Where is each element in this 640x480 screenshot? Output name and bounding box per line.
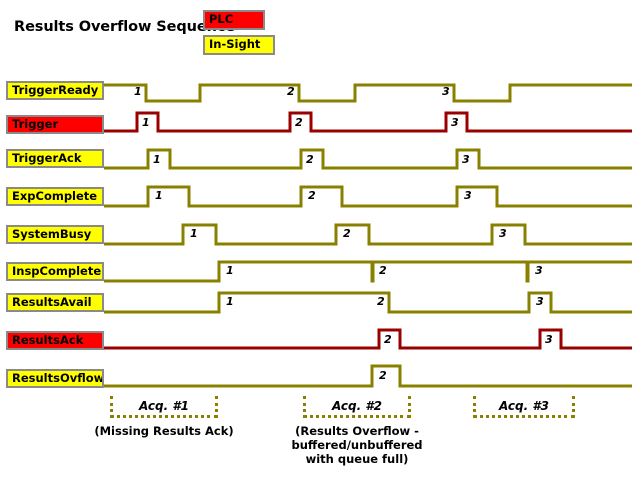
acquisition-title-acq3: Acq. #3 [473,399,575,413]
pulse-number: 3 [451,116,459,129]
pulse-number: 1 [134,85,142,98]
pulse-number: 1 [155,189,163,202]
pulse-number: 2 [377,295,385,308]
waveform-triggerack [104,150,632,168]
pulse-number: 2 [308,189,316,202]
pulse-number: 3 [462,153,470,166]
pulse-number: 3 [536,295,544,308]
pulse-number: 2 [384,333,392,346]
waveform-triggerready [104,85,632,101]
pulse-number: 2 [379,369,387,382]
acquisition-title-acq2: Acq. #2 [303,399,411,413]
pulse-number: 2 [295,116,303,129]
pulse-number: 2 [343,227,351,240]
pulse-number: 3 [545,333,553,346]
pulse-number: 1 [153,153,161,166]
pulse-number: 2 [306,153,314,166]
pulse-number: 3 [535,264,543,277]
pulse-number: 1 [190,227,198,240]
timing-diagram-page: Results Overflow Sequence PLC In-Sight T… [0,0,640,480]
pulse-number: 1 [142,116,150,129]
waveform-expcomplete [104,187,632,206]
pulse-number: 1 [226,264,234,277]
waveform-resultsovflow [104,366,632,386]
pulse-number: 3 [499,227,507,240]
waveform-systembusy [104,225,632,244]
acquisition-caption-acq2: (Results Overflow -buffered/unbufferedwi… [263,424,451,466]
acquisition-title-acq1: Acq. #1 [110,399,218,413]
pulse-number: 1 [226,295,234,308]
pulse-number: 3 [442,85,450,98]
pulse-number: 3 [464,189,472,202]
waveform-trigger [104,113,632,131]
waveform-resultsavail [104,293,632,312]
acquisition-caption-acq1: (Missing Results Ack) [70,424,258,438]
pulse-number: 2 [287,85,295,98]
pulse-number: 2 [379,264,387,277]
waveform-resultsack [104,330,632,348]
waveform-inspcomplete [104,262,632,281]
